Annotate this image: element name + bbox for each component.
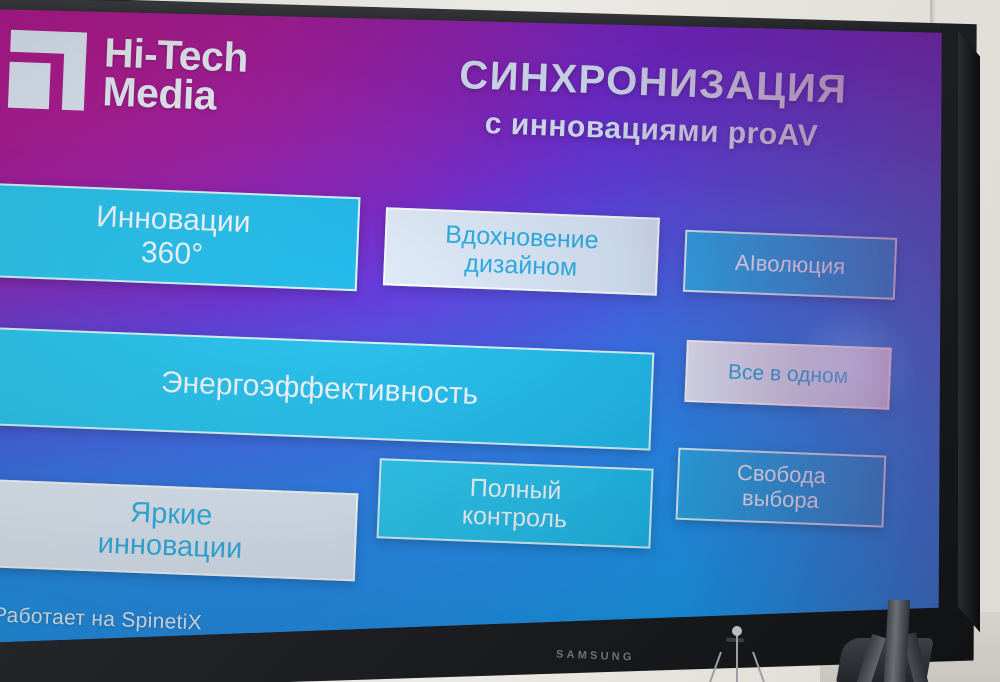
slide-footer-credit: Работает на SpinetiX [0,603,202,635]
stand-column [884,600,910,682]
screenshot-stage: Hi-Tech Media СИНХРОНИЗАЦИЯ с инновациям… [0,0,1000,682]
tile-energy-label: Энергоэффективность [160,366,478,412]
tile-energy-efficiency[interactable]: Энергоэффективность [0,327,654,450]
tile-control-line2: контроль [461,501,567,533]
tile-allinone-label: Все в одном [728,361,849,389]
tile-aivolution[interactable]: AIволюция [683,230,897,300]
slide-content-plane: Hi-Tech Media СИНХРОНИЗАЦИЯ с инновациям… [0,6,975,646]
tile-design-line2: дизайном [444,249,598,283]
brand-logo-wordmark: Hi-Tech Media [102,33,249,117]
cable-hanger [736,634,738,682]
tile-aivolution-label: AIволюция [735,250,846,279]
brand-logo: Hi-Tech Media [8,30,249,118]
tile-bright-line2: инновации [97,527,243,565]
tile-bright-innovations[interactable]: Яркие инновации [0,479,358,581]
tile-control-line1: Полный [462,473,568,505]
tile-innovations[interactable]: Инновации 360° [0,183,360,291]
tile-freedom-line2: выбора [735,486,825,514]
slide-headline: СИНХРОНИЗАЦИЯ с инновациями proAV [391,50,914,157]
tile-all-in-one[interactable]: Все в одном [684,340,891,410]
tile-full-control[interactable]: Полный контроль [377,458,654,548]
tile-freedom-of-choice[interactable]: Свобода выбора [676,448,887,528]
tile-design-inspiration[interactable]: Вдохновение дизайном [383,207,660,295]
television-right-edge [958,18,980,658]
corner-bracket-square-icon [8,30,87,111]
ir-receiver-icon [726,638,744,643]
television-screen[interactable]: Hi-Tech Media СИНХРОНИЗАЦИЯ с инновациям… [0,6,976,646]
tile-innovations-line2: 360° [94,234,250,273]
tile-innovations-line1: Инновации [96,201,252,240]
